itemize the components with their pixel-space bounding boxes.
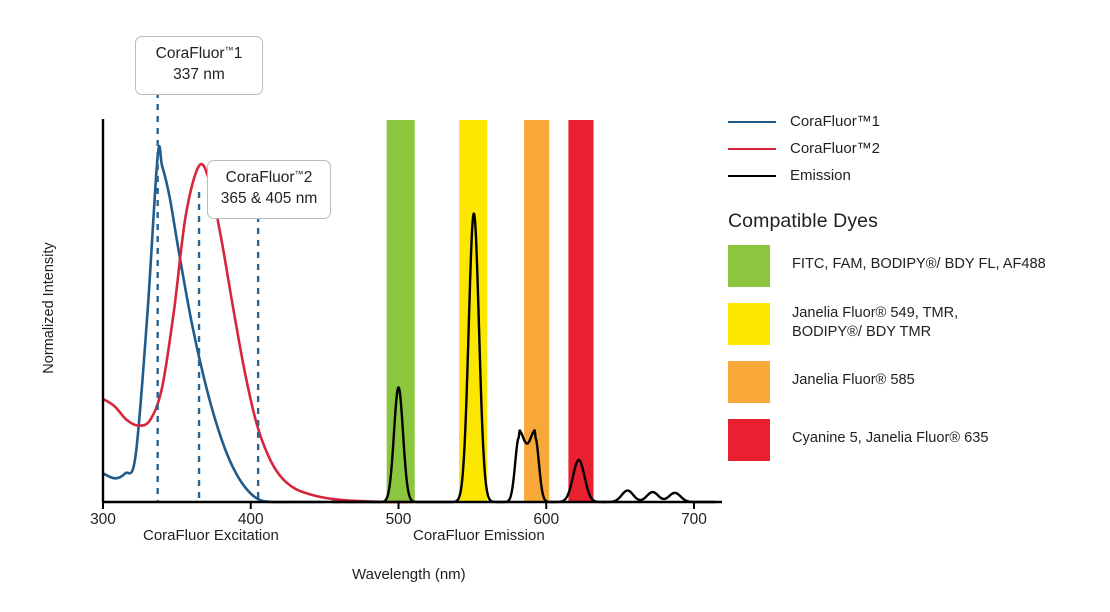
dye-legend-item-0[interactable]: FITC, FAM, BODIPY®/ BDY FL, AF488 xyxy=(728,245,1100,287)
x-tick-label-400: 400 xyxy=(233,511,269,529)
dye-legend-item-1[interactable]: Janelia Fluor® 549, TMR,BODIPY®/ BDY TMR xyxy=(728,303,1100,345)
dye-label-0: FITC, FAM, BODIPY®/ BDY FL, AF488 xyxy=(792,245,1046,274)
legend-line-swatch-corafluor-2 xyxy=(728,148,776,150)
callout-corafluor-2-value: 365 & 405 nm xyxy=(220,189,318,210)
x-tick-label-700: 700 xyxy=(676,511,712,529)
fluorescence-spectra-figure: CoraFluor™1 337 nm CoraFluor™2 365 & 405… xyxy=(0,0,1110,612)
dye-label-line: Cyanine 5, Janelia Fluor® 635 xyxy=(792,429,989,448)
dye-color-swatch-2 xyxy=(728,361,770,403)
dye-label-line: Janelia Fluor® 585 xyxy=(792,371,915,390)
legend-item-corafluor-1[interactable]: CoraFluor™1 xyxy=(728,108,1100,135)
dye-label-line: Janelia Fluor® 549, TMR, xyxy=(792,304,958,323)
compatible-dyes-heading: Compatible Dyes xyxy=(728,210,1100,233)
x-axis-sublabel-excitation: CoraFluor Excitation xyxy=(143,527,279,544)
legend-label-corafluor-2: CoraFluor™2 xyxy=(790,140,880,157)
legend-item-emission[interactable]: Emission xyxy=(728,162,1100,189)
x-tick-label-300: 300 xyxy=(85,511,121,529)
dye-label-line: BODIPY®/ BDY TMR xyxy=(792,323,958,342)
series-legend: CoraFluor™1CoraFluor™2Emission xyxy=(728,108,1100,189)
callout-corafluor-1-title: CoraFluor™1 xyxy=(148,44,250,65)
compatible-dyes-legend: FITC, FAM, BODIPY®/ BDY FL, AF488Janelia… xyxy=(728,245,1100,461)
callout-corafluor-2-title: CoraFluor™2 xyxy=(220,168,318,189)
callout-corafluor-1-value: 337 nm xyxy=(148,65,250,86)
dye-legend-item-3[interactable]: Cyanine 5, Janelia Fluor® 635 xyxy=(728,419,1100,461)
y-axis-title: Normalized Intensity xyxy=(41,223,57,393)
legend-line-swatch-emission xyxy=(728,175,776,177)
legend-label-corafluor-1: CoraFluor™1 xyxy=(790,113,880,130)
x-axis-sublabel-emission: CoraFluor Emission xyxy=(413,527,545,544)
emission-band-3 xyxy=(568,120,593,502)
legend-label-emission: Emission xyxy=(790,167,851,184)
x-axis-title: Wavelength (nm) xyxy=(352,566,466,583)
dye-color-swatch-0 xyxy=(728,245,770,287)
dye-legend-item-2[interactable]: Janelia Fluor® 585 xyxy=(728,361,1100,403)
dye-color-swatch-1 xyxy=(728,303,770,345)
callout-corafluor-1: CoraFluor™1 337 nm xyxy=(135,36,263,95)
dye-label-line: FITC, FAM, BODIPY®/ BDY FL, AF488 xyxy=(792,255,1046,274)
legend-item-corafluor-2[interactable]: CoraFluor™2 xyxy=(728,135,1100,162)
legend-panel: CoraFluor™1CoraFluor™2Emission Compatibl… xyxy=(728,108,1100,477)
emission-band-0 xyxy=(387,120,415,502)
callout-corafluor-2: CoraFluor™2 365 & 405 nm xyxy=(207,160,331,219)
x-tick-label-500: 500 xyxy=(381,511,417,529)
dye-label-3: Cyanine 5, Janelia Fluor® 635 xyxy=(792,419,989,448)
legend-line-swatch-corafluor-1 xyxy=(728,121,776,123)
dye-label-2: Janelia Fluor® 585 xyxy=(792,361,915,390)
x-tick-label-600: 600 xyxy=(528,511,564,529)
dye-color-swatch-3 xyxy=(728,419,770,461)
dye-label-1: Janelia Fluor® 549, TMR,BODIPY®/ BDY TMR xyxy=(792,303,958,343)
